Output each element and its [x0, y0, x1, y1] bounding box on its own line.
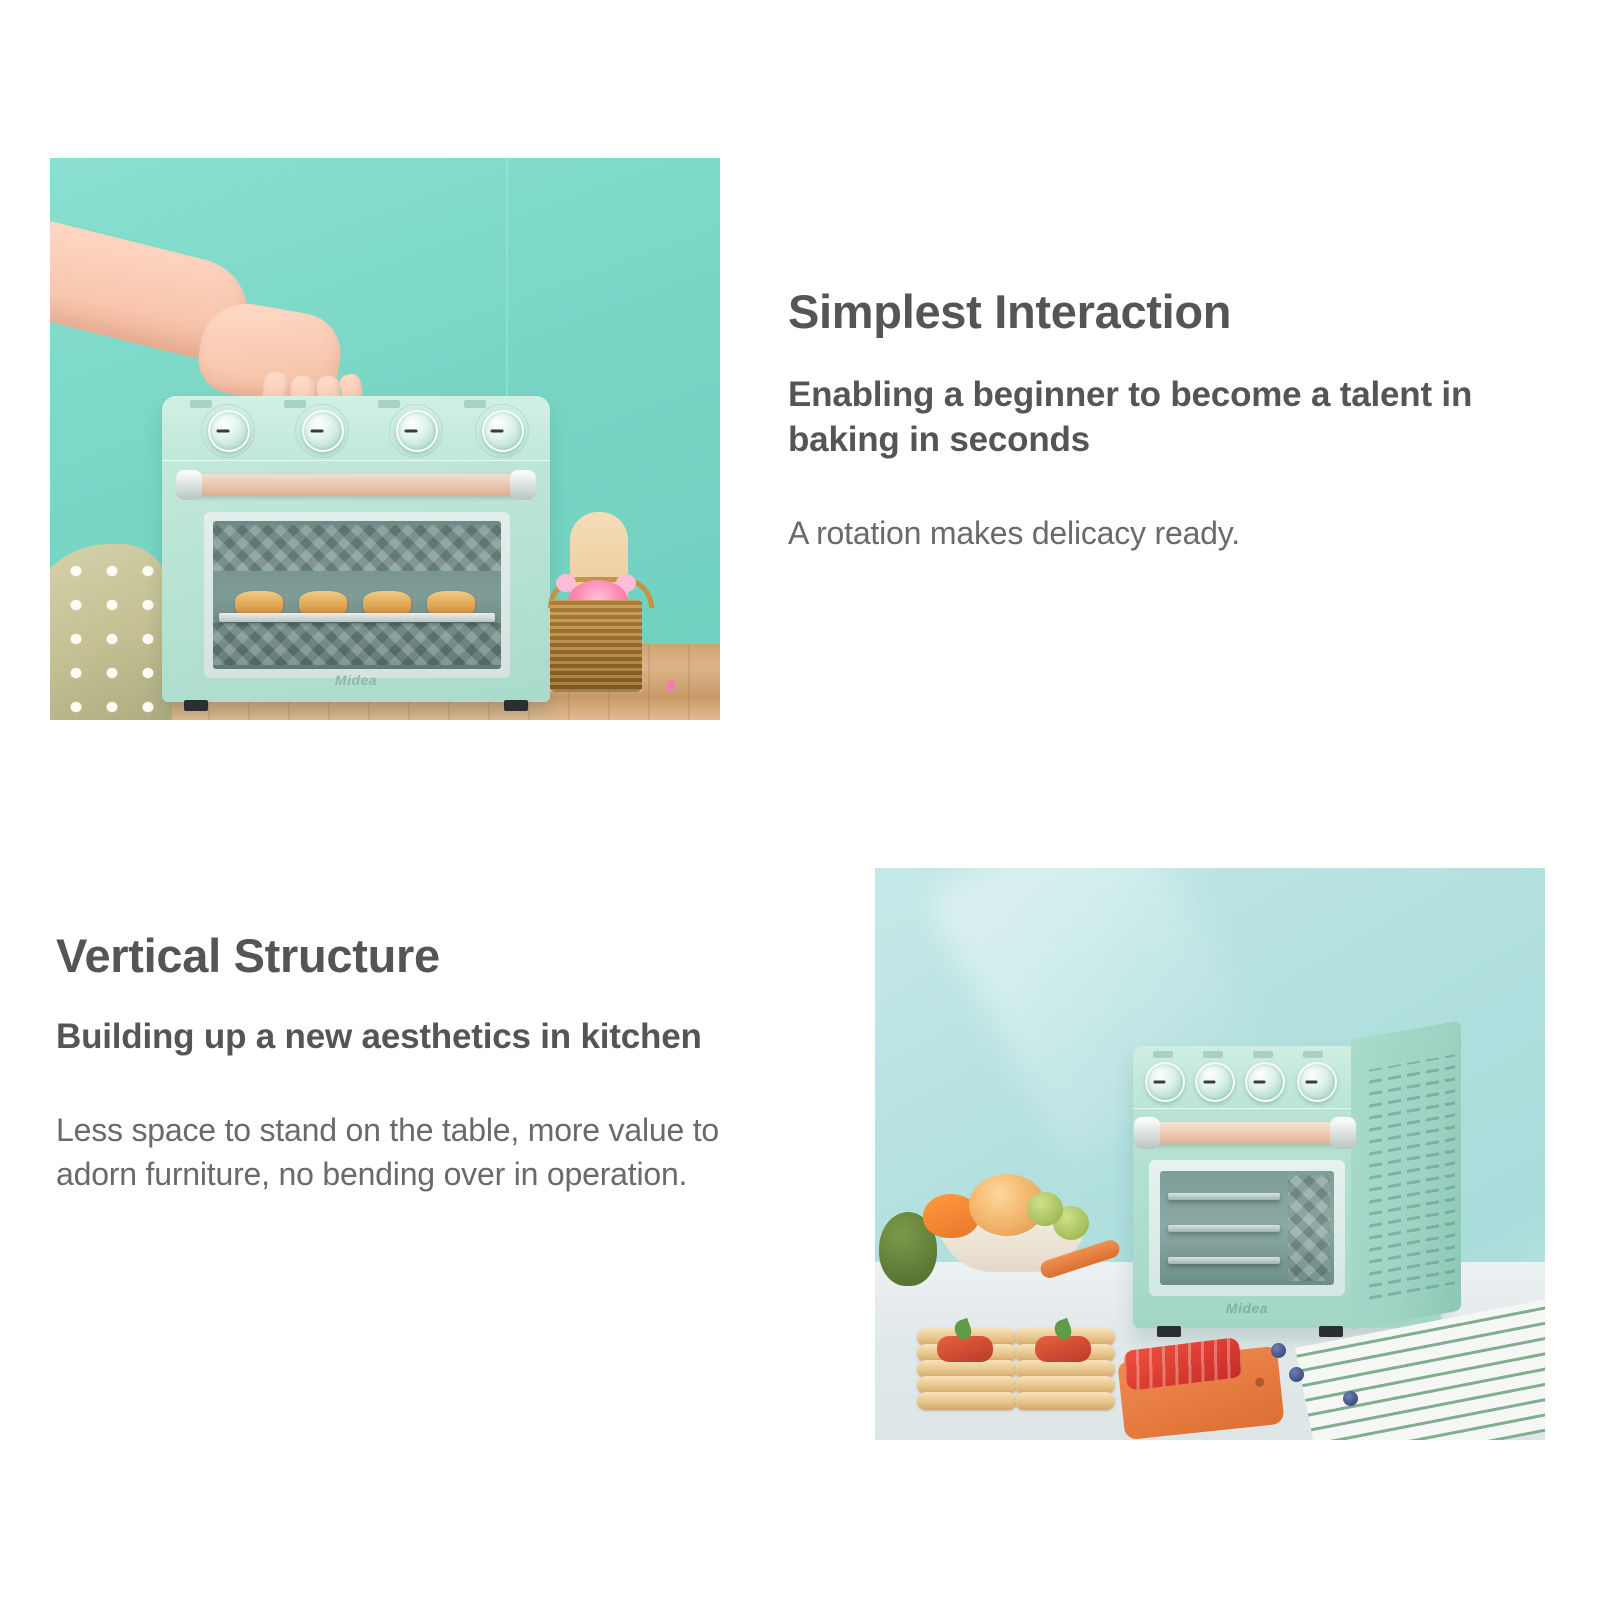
countertop-oven: Midea — [162, 396, 550, 702]
oven-kitchen-scene-photo: Midea — [875, 868, 1545, 1440]
pastry — [235, 591, 283, 615]
lime — [1027, 1192, 1063, 1226]
blueberry — [1271, 1343, 1286, 1358]
section-subheading: Enabling a beginner to become a talent i… — [788, 373, 1528, 463]
oven-shelf — [1168, 1193, 1280, 1200]
oven-door — [1149, 1160, 1345, 1296]
vertical-structure-text-block: Vertical Structure Building up a new aes… — [56, 932, 796, 1196]
midea-logo: Midea — [162, 672, 550, 688]
control-knob — [208, 410, 250, 452]
oven-shelf — [1168, 1257, 1280, 1264]
oven-door — [204, 512, 510, 678]
polka-dot-fabric — [50, 544, 172, 720]
knob-label — [1153, 1051, 1173, 1058]
pancake — [1015, 1392, 1115, 1410]
section-heading: Simplest Interaction — [788, 288, 1528, 335]
knob-label — [284, 400, 306, 408]
section-body: A rotation makes delicacy ready. — [788, 511, 1528, 555]
oven-door-glass — [1160, 1171, 1334, 1285]
oven-door-glass — [213, 521, 501, 669]
control-knob — [396, 410, 438, 452]
oven-interior-texture — [1288, 1175, 1330, 1281]
control-knob — [1245, 1062, 1285, 1102]
oven-control-panel — [1133, 1046, 1351, 1109]
knob-label — [190, 400, 212, 408]
oven-door-handle — [1147, 1122, 1343, 1144]
pancake — [917, 1392, 1017, 1410]
vertical-oven: Midea — [1133, 1046, 1441, 1328]
oven-shelf — [1168, 1225, 1280, 1232]
section-subheading: Building up a new aesthetics in kitchen — [56, 1015, 796, 1060]
oven-foot — [1319, 1326, 1343, 1337]
oven-foot — [184, 700, 208, 711]
section-body: Less space to stand on the table, more v… — [56, 1108, 796, 1196]
midea-logo: Midea — [1149, 1300, 1345, 1316]
oven-hand-knob-photo: Midea — [50, 158, 720, 720]
pastry — [363, 591, 411, 615]
oven-door-handle — [188, 474, 524, 496]
knob-label — [1303, 1051, 1323, 1058]
control-knob — [482, 410, 524, 452]
knob-label — [464, 400, 486, 408]
oven-control-panel — [162, 396, 550, 461]
knob-label — [378, 400, 400, 408]
simplest-interaction-text-block: Simplest Interaction Enabling a beginner… — [788, 288, 1528, 555]
knob-label — [1203, 1051, 1223, 1058]
blueberry — [1289, 1367, 1304, 1382]
control-knob — [1195, 1062, 1235, 1102]
knob-label — [1253, 1051, 1273, 1058]
pastry — [427, 591, 475, 615]
control-knob — [1297, 1062, 1337, 1102]
baking-tray — [219, 613, 495, 622]
oven-interior-texture — [213, 623, 501, 665]
blueberry — [1343, 1391, 1358, 1406]
pastry — [299, 591, 347, 615]
woven-basket — [550, 600, 642, 692]
control-knob — [302, 410, 344, 452]
control-knob — [1145, 1062, 1185, 1102]
oven-foot — [1157, 1326, 1181, 1337]
oven-foot — [504, 700, 528, 711]
oven-interior-texture — [213, 525, 501, 571]
section-heading: Vertical Structure — [56, 932, 796, 979]
oven-side-vents — [1369, 1054, 1455, 1299]
